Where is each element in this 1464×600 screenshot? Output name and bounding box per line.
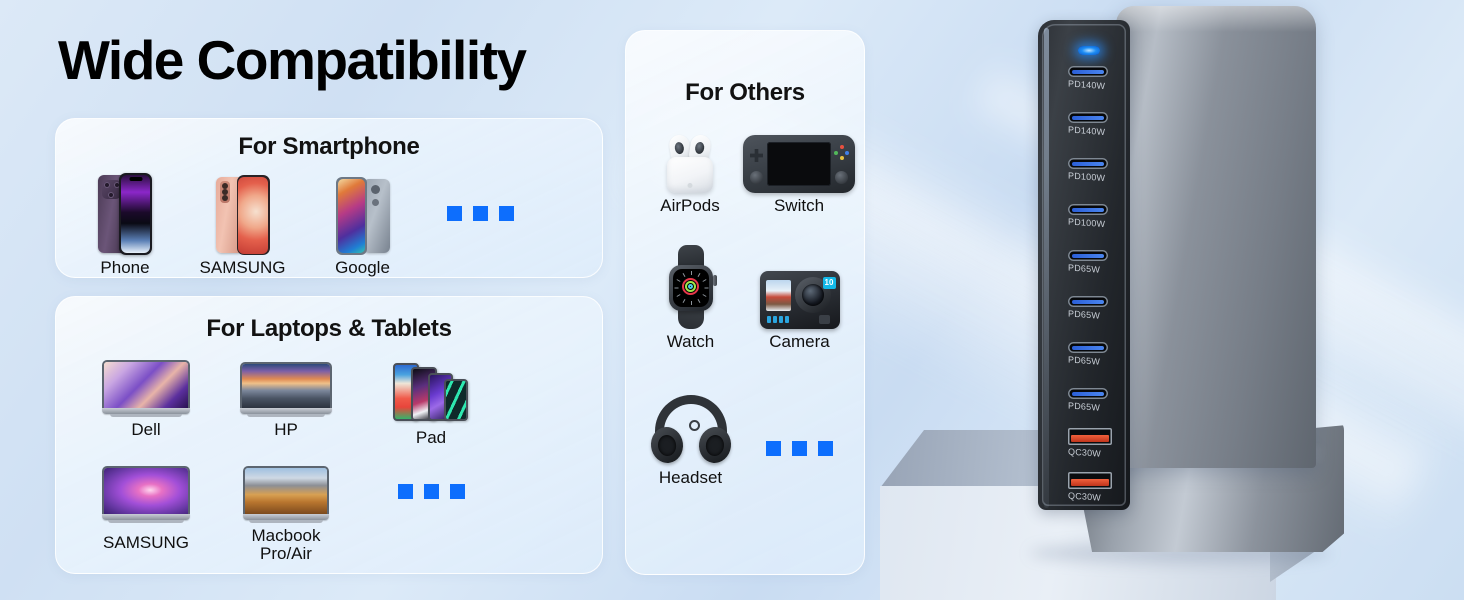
more-devices-indicator-laptops — [356, 461, 506, 523]
smartwatch-icon — [665, 245, 717, 329]
device-item-phone: Phone — [70, 171, 180, 277]
device-item-samsung-phone: SAMSUNG — [180, 171, 305, 277]
port-pd100w-1: PD100W — [1068, 158, 1112, 182]
port-pd100w-2: PD100W — [1068, 204, 1112, 228]
hp-laptop-icon — [240, 362, 332, 417]
usb-a-port-icon — [1068, 428, 1112, 445]
device-label: AirPods — [660, 197, 720, 215]
device-label: Google — [335, 259, 390, 277]
charger-port-panel: PD140W PD140W PD100W PD100W PD65W — [1038, 20, 1130, 510]
device-item-airpods: AirPods — [636, 131, 744, 215]
iphone-icon — [98, 173, 152, 255]
usb-c-port-icon — [1068, 342, 1108, 353]
device-label: SAMSUNG — [103, 534, 189, 552]
device-item-camera: 10 Camera — [745, 241, 854, 351]
card-title-others: For Others — [626, 79, 864, 107]
usb-c-port-icon — [1068, 250, 1108, 261]
card-title-smartphone: For Smartphone — [56, 133, 602, 161]
google-phone-icon — [336, 177, 390, 255]
port-label: QC30W — [1068, 490, 1112, 503]
headphones-icon — [649, 393, 733, 465]
usb-c-port-icon — [1068, 204, 1108, 215]
port-label: PD140W — [1068, 124, 1112, 137]
port-label: PD65W — [1068, 262, 1112, 275]
port-label: PD100W — [1068, 216, 1112, 229]
port-pd65w-3: PD65W — [1068, 342, 1112, 366]
port-pd140w-2: PD140W — [1068, 112, 1112, 136]
ellipsis-squares-icon — [447, 206, 514, 221]
device-label: Pad — [416, 429, 446, 447]
device-item-dell: Dell — [76, 355, 216, 439]
port-pd140w-1: PD140W — [1068, 66, 1112, 90]
airpods-icon — [661, 135, 719, 193]
usb-c-port-icon — [1068, 296, 1108, 307]
game-console-icon — [743, 135, 855, 193]
card-for-laptops-tablets: For Laptops & Tablets Dell — [55, 296, 603, 574]
port-pd65w-2: PD65W — [1068, 296, 1112, 320]
device-label: SAMSUNG — [200, 259, 286, 277]
port-label: PD140W — [1068, 78, 1112, 91]
device-label: Dell — [131, 421, 160, 439]
port-qc30w-1: QC30W — [1068, 428, 1112, 458]
card-for-smartphone: For Smartphone Phone — [55, 118, 603, 278]
device-label: Phone — [100, 259, 149, 277]
ellipsis-squares-icon — [766, 441, 833, 456]
usb-c-port-icon — [1068, 158, 1108, 169]
device-label: Camera — [769, 333, 829, 351]
tablet-stack-icon — [393, 359, 469, 421]
charger-side-panel — [1116, 6, 1316, 468]
device-label: HP — [274, 421, 298, 439]
charger-body: PD140W PD140W PD100W PD100W PD65W — [1020, 6, 1320, 526]
port-label: QC30W — [1068, 446, 1112, 459]
ellipsis-squares-icon — [398, 484, 465, 499]
port-pd65w-4: PD65W — [1068, 388, 1112, 412]
more-devices-indicator-smartphone — [420, 171, 540, 255]
device-label: Watch — [667, 333, 715, 351]
compatibility-infographic: Wide Compatibility For Smartphone Phone — [0, 0, 1464, 600]
card-for-others: For Others AirPods — [625, 30, 865, 575]
more-devices-indicator-others — [745, 411, 854, 487]
device-item-headset: Headset — [636, 389, 745, 487]
port-label: PD65W — [1068, 354, 1112, 367]
port-label: PD100W — [1068, 170, 1112, 183]
dell-laptop-icon — [102, 360, 190, 417]
product-image-charging-station: PD140W PD140W PD100W PD100W PD65W — [880, 0, 1464, 600]
device-item-switch: Switch — [744, 131, 854, 215]
card-title-laptops: For Laptops & Tablets — [56, 315, 602, 343]
port-pd65w-1: PD65W — [1068, 250, 1112, 274]
samsung-laptop-icon — [102, 466, 190, 523]
usb-a-port-icon — [1068, 472, 1112, 489]
usb-c-port-icon — [1068, 388, 1108, 399]
device-item-google-phone: Google — [305, 171, 420, 277]
port-label: PD65W — [1068, 400, 1112, 413]
device-item-pad: Pad — [356, 355, 506, 447]
power-led-indicator — [1078, 46, 1100, 55]
device-item-macbook: Macbook Pro/Air — [216, 461, 356, 563]
samsung-phone-icon — [216, 175, 270, 255]
port-label: PD65W — [1068, 308, 1112, 321]
device-item-hp: HP — [216, 355, 356, 439]
device-label: Headset — [659, 469, 722, 487]
port-qc30w-2: QC30W — [1068, 472, 1112, 502]
page-title: Wide Compatibility — [58, 28, 526, 92]
device-label: Switch — [774, 197, 824, 215]
macbook-icon — [243, 466, 329, 523]
device-label: Macbook Pro/Air — [252, 527, 321, 563]
action-camera-icon: 10 — [760, 271, 840, 329]
device-item-watch: Watch — [636, 241, 745, 351]
usb-c-port-icon — [1068, 112, 1108, 123]
device-item-samsung-laptop: SAMSUNG — [76, 461, 216, 552]
usb-c-port-icon — [1068, 66, 1108, 77]
